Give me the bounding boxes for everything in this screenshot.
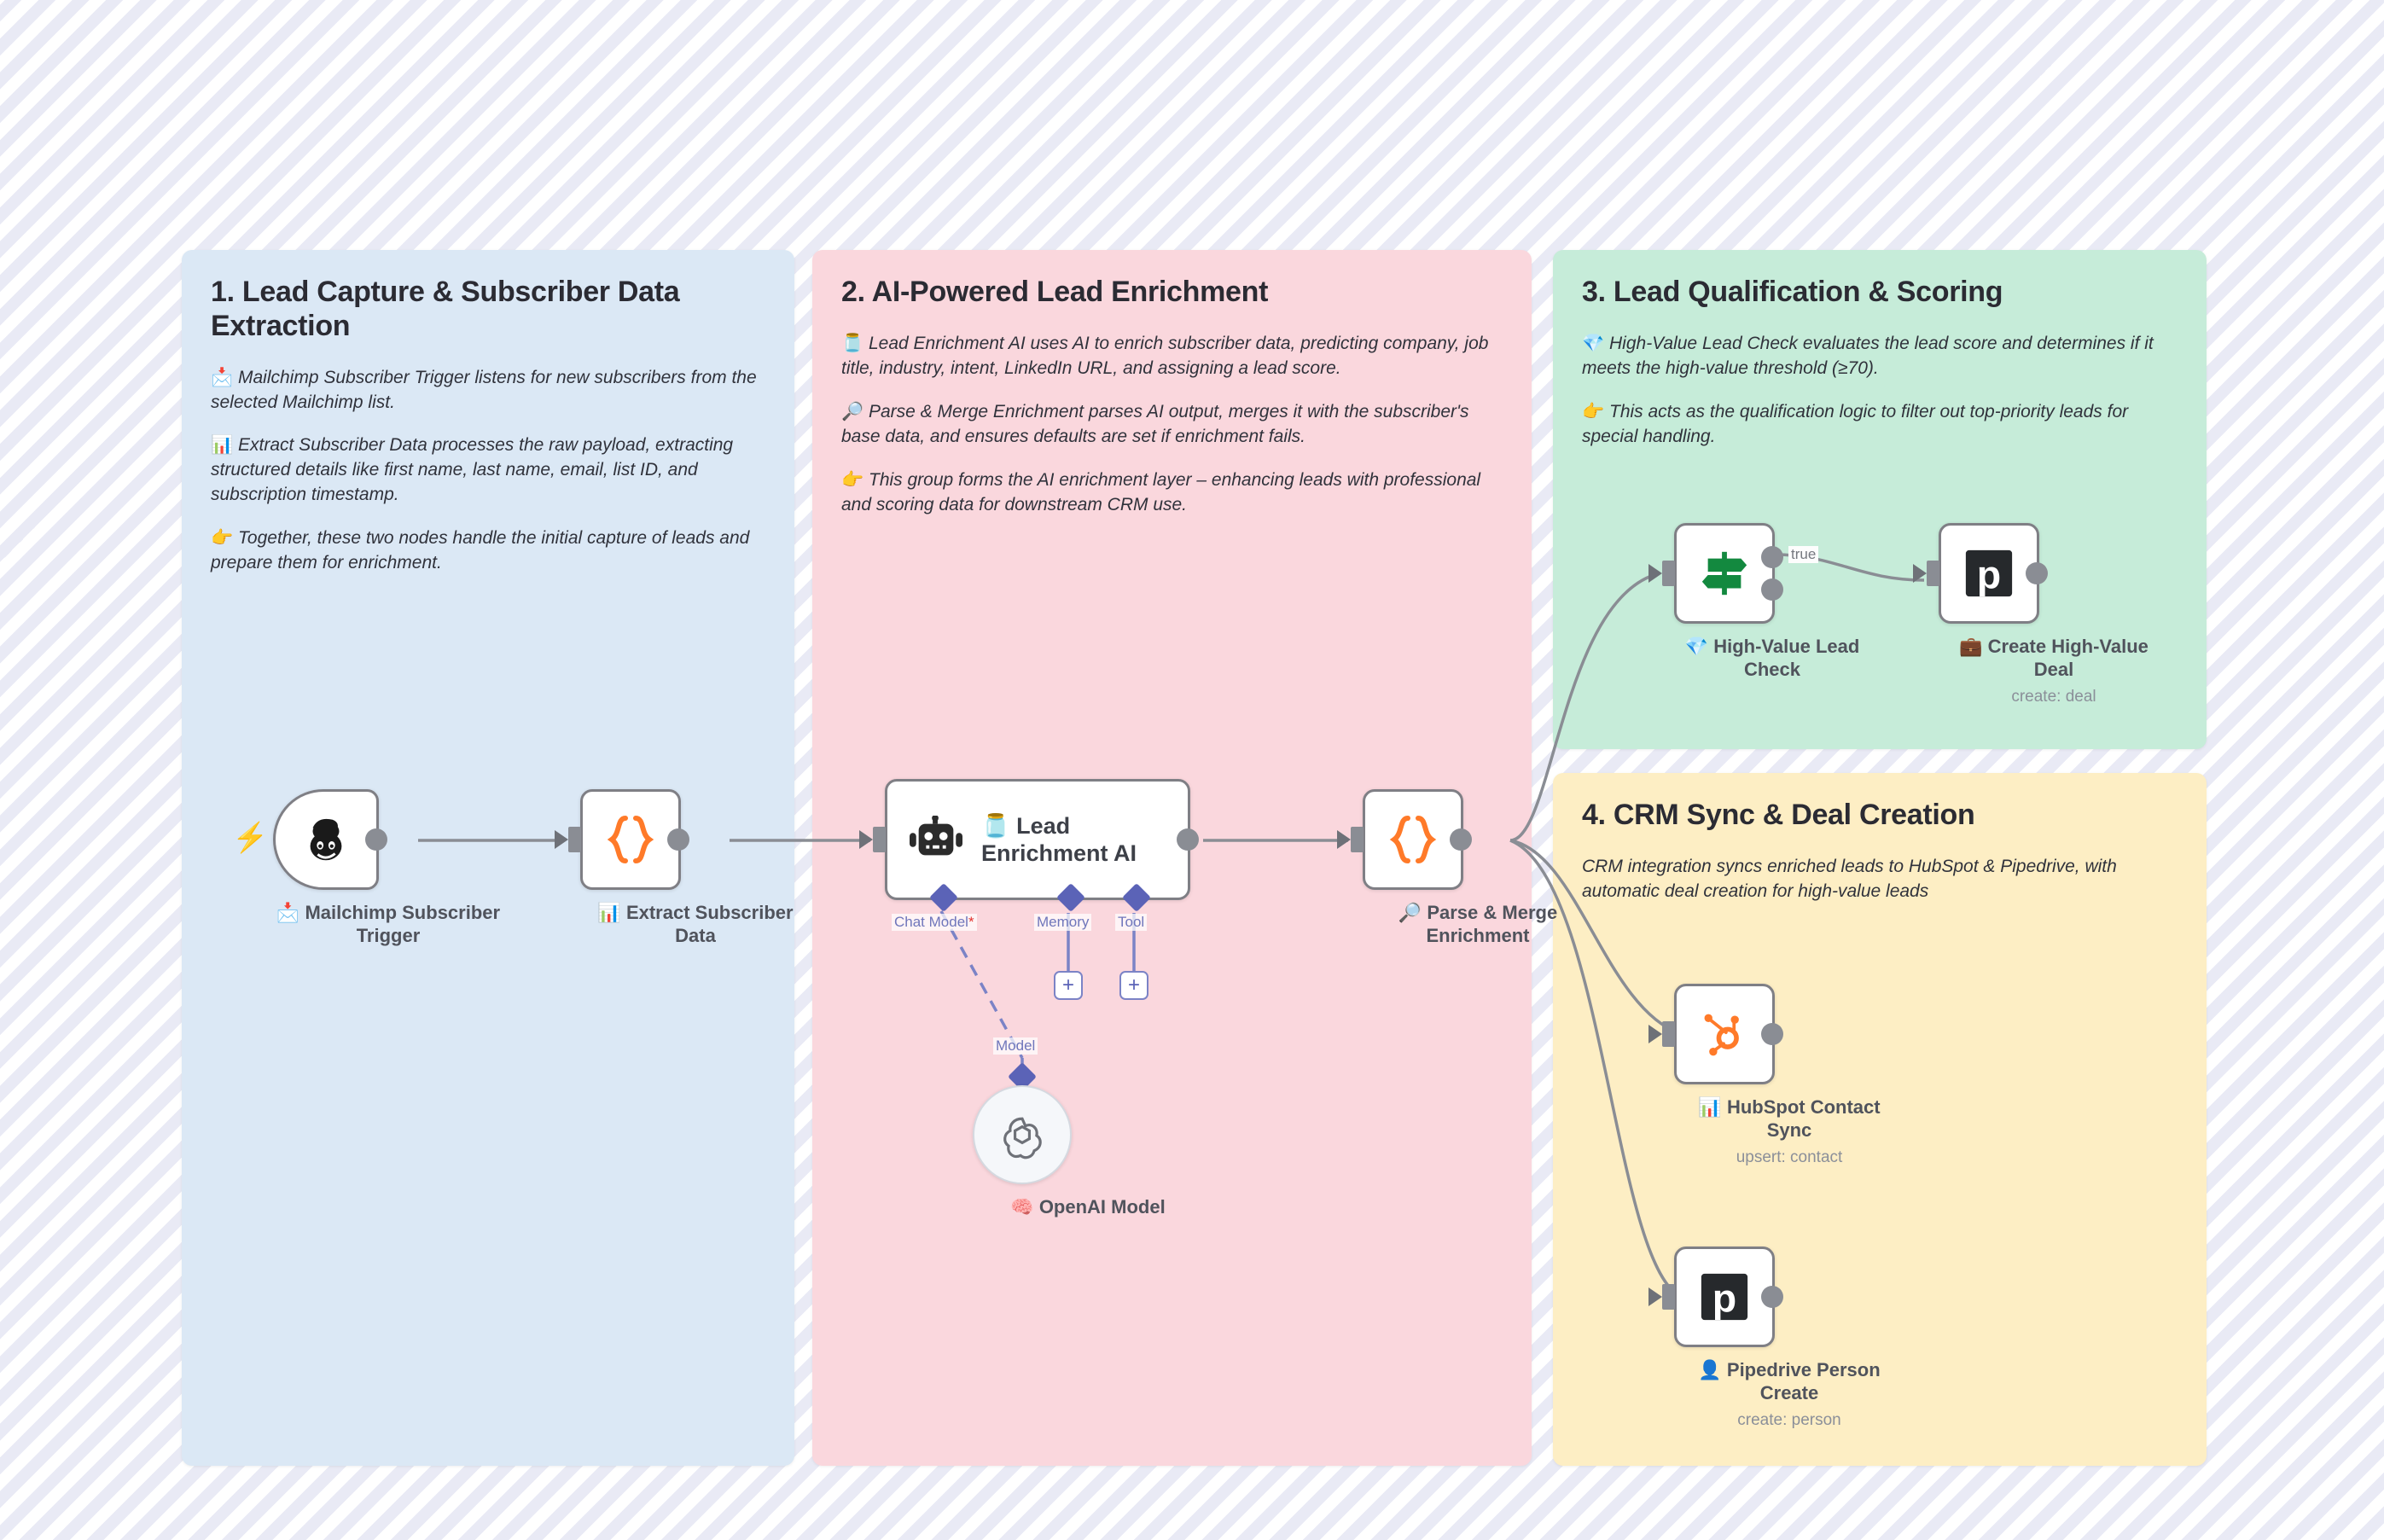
node-box[interactable]: p	[1674, 1247, 1775, 1347]
pipedrive-icon: p	[1962, 547, 2015, 600]
node-box[interactable]	[273, 789, 379, 890]
output-port[interactable]	[1761, 1286, 1783, 1308]
crystal-ball-icon: 🫙	[841, 334, 863, 353]
bar-chart-icon: 📊	[211, 435, 233, 455]
input-port[interactable]	[1927, 561, 1939, 586]
mailchimp-icon	[299, 813, 352, 866]
node-box[interactable]: p	[1939, 523, 2039, 624]
magnifier-icon: 🔎	[1398, 902, 1422, 923]
panel-paragraph: 👉 This group forms the AI enrichment lay…	[841, 468, 1503, 518]
output-port[interactable]	[1177, 828, 1199, 851]
edge-label-true: true	[1788, 546, 1818, 563]
node-mailchimp-subscriber-trigger[interactable]: 📩 Mailchimp Subscriber Trigger	[273, 789, 503, 948]
magnifier-icon: 🔎	[841, 402, 863, 421]
input-port[interactable]	[873, 827, 886, 852]
envelope-icon: 📩	[211, 368, 233, 387]
node-label: 💎 High-Value Lead Check	[1674, 636, 1870, 682]
switch-icon	[1698, 547, 1751, 600]
diamond-gem-icon: 💎	[1582, 334, 1604, 353]
paragraph-text: High-Value Lead Check evaluates the lead…	[1582, 334, 2154, 378]
openai-icon	[997, 1109, 1048, 1160]
output-port[interactable]	[365, 828, 387, 851]
chat-model-label: Chat Model*	[892, 914, 977, 931]
node-pipedrive-person-create[interactable]: p 👤 Pipedrive Person Create create: pers…	[1674, 1247, 1904, 1430]
paragraph-text: This group forms the AI enrichment layer…	[841, 470, 1480, 514]
panel-paragraph: 👉 This acts as the qualification logic t…	[1582, 400, 2178, 450]
panel-paragraph: 🫙 Lead Enrichment AI uses AI to enrich s…	[841, 332, 1503, 381]
node-box[interactable]	[1363, 789, 1463, 890]
node-box[interactable]	[973, 1085, 1072, 1184]
panel-title: 4. CRM Sync & Deal Creation	[1582, 799, 2178, 833]
add-tool-button[interactable]: +	[1119, 971, 1148, 1000]
hubspot-icon	[1699, 1008, 1750, 1060]
panel-title: 2. AI-Powered Lead Enrichment	[841, 276, 1503, 310]
paragraph-text: Extract Subscriber Data processes the ra…	[211, 435, 733, 504]
chat-model-label-text: Chat Model	[894, 914, 968, 930]
node-label-text: HubSpot Contact Sync	[1727, 1096, 1881, 1141]
panel-title: 1. Lead Capture & Subscriber Data Extrac…	[211, 276, 765, 344]
panel-paragraph: 💎 High-Value Lead Check evaluates the le…	[1582, 332, 2178, 381]
node-box[interactable]	[580, 789, 681, 890]
output-port-false[interactable]	[1761, 578, 1783, 601]
bar-chart-icon: 📊	[1698, 1096, 1721, 1118]
panel-paragraph: 📊 Extract Subscriber Data processes the …	[211, 433, 765, 508]
node-label-text: Extract Subscriber Data	[626, 902, 794, 946]
node-label: 📊 Extract Subscriber Data	[580, 902, 811, 948]
node-label: 📩 Mailchimp Subscriber Trigger	[273, 902, 503, 948]
bar-chart-icon: 📊	[597, 902, 620, 923]
node-extract-subscriber-data[interactable]: 📊 Extract Subscriber Data	[580, 789, 811, 948]
node-label-text: High-Value Lead Check	[1713, 636, 1859, 680]
panel-body: CRM integration syncs enriched leads to …	[1582, 855, 2178, 904]
panel-title: 3. Lead Qualification & Scoring	[1582, 276, 2178, 310]
node-sublabel: upsert: contact	[1674, 1148, 1904, 1167]
code-braces-icon	[607, 813, 654, 866]
envelope-icon: 📩	[276, 902, 299, 923]
panel-body: 💎 High-Value Lead Check evaluates the le…	[1582, 332, 2178, 450]
node-create-high-value-deal[interactable]: p 💼 Create High-Value Deal create: deal	[1939, 523, 2169, 706]
node-label-text: Parse & Merge Enrichment	[1426, 902, 1557, 946]
output-port-true[interactable]	[1761, 546, 1783, 568]
output-port[interactable]	[1450, 828, 1472, 851]
person-icon: 👤	[1698, 1359, 1721, 1380]
node-high-value-lead-check[interactable]: 💎 High-Value Lead Check	[1674, 523, 1870, 682]
paragraph-text: Lead Enrichment AI uses AI to enrich sub…	[841, 334, 1488, 378]
svg-text:p: p	[1977, 552, 2001, 596]
input-port[interactable]	[1662, 1284, 1675, 1310]
node-inline-title: 🫙 Lead Enrichment AI	[981, 812, 1143, 868]
node-label: 🧠 OpenAI Model	[973, 1196, 1203, 1219]
input-port[interactable]	[1662, 561, 1675, 586]
node-box[interactable]: 🫙 Lead Enrichment AI	[885, 779, 1190, 900]
tool-label: Tool	[1115, 914, 1147, 931]
robot-icon	[910, 816, 962, 863]
diamond-gem-icon: 💎	[1685, 636, 1708, 657]
paragraph-text: This acts as the qualification logic to …	[1582, 402, 2128, 446]
output-port[interactable]	[667, 828, 689, 851]
node-label-text: Mailchimp Subscriber Trigger	[305, 902, 500, 946]
node-label: 🔎 Parse & Merge Enrichment	[1363, 902, 1593, 948]
panel-body: 📩 Mailchimp Subscriber Trigger listens f…	[211, 366, 765, 577]
panel-paragraph: 👉 Together, these two nodes handle the i…	[211, 526, 765, 576]
node-hubspot-contact-sync[interactable]: 📊 HubSpot Contact Sync upsert: contact	[1674, 984, 1904, 1167]
input-port[interactable]	[1662, 1021, 1675, 1047]
panel-body: 🫙 Lead Enrichment AI uses AI to enrich s…	[841, 332, 1503, 518]
trigger-bolt-icon: ⚡	[232, 823, 268, 852]
input-port[interactable]	[568, 827, 581, 852]
node-sublabel: create: deal	[1939, 688, 2169, 706]
node-lead-enrichment-ai[interactable]: 🫙 Lead Enrichment AI Chat Model* Memory …	[885, 779, 1190, 900]
code-braces-icon	[1389, 813, 1437, 866]
node-label: 📊 HubSpot Contact Sync	[1691, 1096, 1887, 1142]
node-label-text: Create High-Value Deal	[1988, 636, 2149, 680]
add-memory-button[interactable]: +	[1054, 971, 1083, 1000]
memory-label: Memory	[1034, 914, 1091, 931]
brain-icon: 🧠	[1010, 1196, 1033, 1217]
node-openai-model[interactable]: 🧠 OpenAI Model	[973, 1085, 1203, 1219]
panel-paragraph: 🔎 Parse & Merge Enrichment parses AI out…	[841, 400, 1503, 450]
panel-paragraph: 📩 Mailchimp Subscriber Trigger listens f…	[211, 366, 765, 416]
node-box[interactable]	[1674, 523, 1775, 624]
paragraph-text: Together, these two nodes handle the ini…	[211, 528, 749, 572]
pointing-finger-icon: 👉	[211, 528, 233, 548]
svg-text:p: p	[1712, 1276, 1736, 1320]
pointing-finger-icon: 👉	[841, 470, 863, 490]
node-parse-merge-enrichment[interactable]: 🔎 Parse & Merge Enrichment	[1363, 789, 1593, 948]
output-port[interactable]	[1761, 1023, 1783, 1045]
node-label-text: OpenAI Model	[1039, 1196, 1166, 1217]
crystal-ball-icon: 🫙	[981, 813, 1010, 839]
input-port[interactable]	[1351, 827, 1364, 852]
output-port[interactable]	[2026, 562, 2048, 584]
node-sublabel: create: person	[1674, 1411, 1904, 1430]
model-port-label: Model	[993, 1037, 1038, 1055]
pointing-finger-icon: 👉	[1582, 402, 1604, 421]
node-label: 💼 Create High-Value Deal	[1956, 636, 2152, 682]
node-box[interactable]	[1674, 984, 1775, 1084]
paragraph-text: Parse & Merge Enrichment parses AI outpu…	[841, 402, 1469, 446]
node-label-text: Pipedrive Person Create	[1727, 1359, 1881, 1403]
panel-paragraph: CRM integration syncs enriched leads to …	[1582, 855, 2178, 904]
briefcase-icon: 💼	[1959, 636, 1982, 657]
node-label: 👤 Pipedrive Person Create	[1691, 1359, 1887, 1405]
pipedrive-icon: p	[1698, 1270, 1751, 1323]
paragraph-text: Mailchimp Subscriber Trigger listens for…	[211, 368, 757, 412]
